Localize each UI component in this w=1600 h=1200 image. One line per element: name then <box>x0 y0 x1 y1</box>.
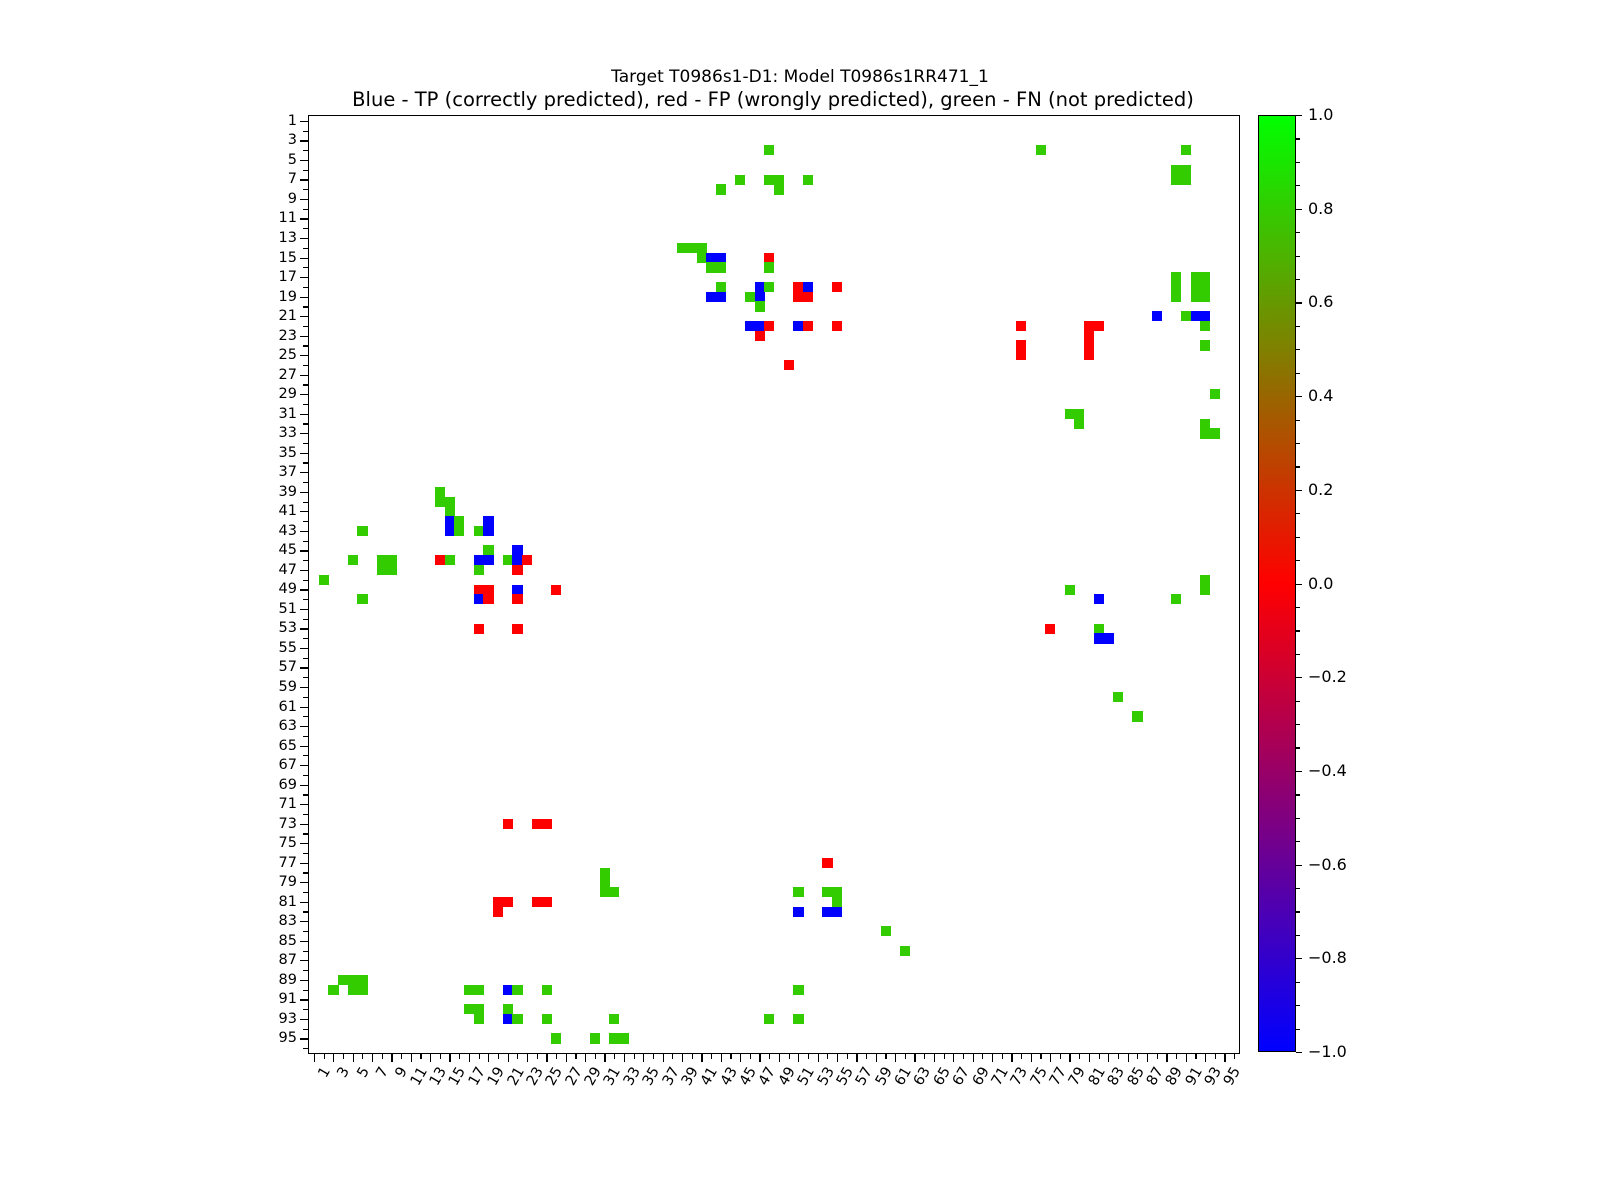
colorbar-minor-tick <box>1296 443 1300 444</box>
x-tick <box>643 1053 644 1062</box>
x-tick <box>982 1053 983 1059</box>
contact-cell <box>609 1014 619 1024</box>
y-tick <box>300 648 309 649</box>
x-tick-label: 79 <box>1067 1065 1089 1088</box>
x-tick-label: 41 <box>699 1065 721 1088</box>
contact-cell <box>435 497 445 507</box>
contact-cell <box>454 516 464 526</box>
contact-cell <box>503 1004 513 1014</box>
y-tick <box>300 804 309 805</box>
contact-cell <box>1094 594 1104 604</box>
contact-cell <box>1045 624 1055 634</box>
contact-cell <box>803 175 813 185</box>
x-tick <box>614 1053 615 1059</box>
colorbar-tick-label: 0.4 <box>1308 388 1333 404</box>
y-tick <box>300 785 309 786</box>
y-tick <box>303 794 309 795</box>
contact-cell <box>445 555 455 565</box>
contact-cell <box>474 1004 484 1014</box>
contact-cell <box>793 321 803 331</box>
contact-cell <box>1210 428 1220 438</box>
y-tick <box>300 472 309 473</box>
colorbar-tick-label: −0.2 <box>1308 669 1347 685</box>
suptitle-line-1: Target T0986s1-D1: Model T0986s1RR471_1 <box>0 66 1600 89</box>
colorbar-tick <box>1296 209 1302 210</box>
y-tick <box>300 336 309 337</box>
colorbar-minor-tick <box>1296 935 1300 936</box>
colorbar-tick-label: −0.8 <box>1308 950 1347 966</box>
x-tick <box>1118 1053 1119 1059</box>
x-tick <box>401 1053 402 1059</box>
colorbar-tick <box>1296 1052 1302 1053</box>
x-tick-label: 57 <box>854 1065 876 1088</box>
x-tick-label: 33 <box>622 1065 644 1088</box>
x-tick <box>692 1053 693 1059</box>
y-tick-label: 51 <box>279 602 297 617</box>
colorbar-minor-tick <box>1296 724 1300 725</box>
contact-cell <box>1094 633 1104 643</box>
y-tick <box>303 423 309 424</box>
y-tick <box>300 316 309 317</box>
x-tick <box>924 1053 925 1059</box>
x-tick <box>324 1053 325 1059</box>
contact-cell <box>822 858 832 868</box>
contact-cell <box>1200 419 1210 429</box>
y-tick <box>300 589 309 590</box>
colorbar-minor-tick <box>1296 326 1300 327</box>
contact-cell <box>803 292 813 302</box>
x-tick <box>362 1053 363 1059</box>
y-tick <box>303 677 309 678</box>
y-tick <box>300 863 309 864</box>
y-tick <box>303 1048 309 1049</box>
y-tick <box>300 238 309 239</box>
contact-cell <box>764 145 774 155</box>
contact-cell <box>1103 633 1113 643</box>
y-tick-label: 23 <box>279 328 297 343</box>
colorbar-tick-label: −1.0 <box>1308 1044 1347 1060</box>
contact-cell <box>483 545 493 555</box>
y-tick <box>300 453 309 454</box>
contact-cell <box>512 594 522 604</box>
contact-cell <box>1181 165 1191 175</box>
x-tick <box>721 1053 722 1062</box>
contact-cell <box>1171 594 1181 604</box>
contact-cell <box>503 819 513 829</box>
contact-cell <box>600 868 610 878</box>
y-tick <box>300 394 309 395</box>
y-tick <box>303 443 309 444</box>
y-tick <box>300 941 309 942</box>
colorbar-minor-tick <box>1296 138 1300 139</box>
colorbar-minor-tick <box>1296 794 1300 795</box>
contact-cell <box>755 282 765 292</box>
colorbar-tick-label: 0.8 <box>1308 201 1333 217</box>
x-tick <box>343 1053 344 1059</box>
y-tick <box>300 960 309 961</box>
contact-cell <box>1016 350 1026 360</box>
y-tick-label: 45 <box>279 543 297 558</box>
y-tick <box>300 355 309 356</box>
contact-cell <box>503 985 513 995</box>
colorbar-minor-tick <box>1296 911 1300 912</box>
y-tick <box>300 843 309 844</box>
y-tick <box>300 570 309 571</box>
y-tick <box>300 140 309 141</box>
y-tick-label: 35 <box>279 445 297 460</box>
contact-cell <box>1200 311 1210 321</box>
y-tick <box>300 433 309 434</box>
y-tick <box>303 462 309 463</box>
y-tick <box>300 902 309 903</box>
y-tick <box>303 287 309 288</box>
y-tick <box>303 541 309 542</box>
contact-cell <box>1171 165 1181 175</box>
contact-cell <box>716 184 726 194</box>
colorbar-tick <box>1296 865 1302 866</box>
contact-cell <box>764 1014 774 1024</box>
x-tick-label: 69 <box>970 1065 992 1088</box>
x-tick-label: 87 <box>1145 1065 1167 1088</box>
colorbar-minor-tick <box>1296 747 1300 748</box>
contact-cell <box>445 497 455 507</box>
y-tick-label: 19 <box>279 289 297 304</box>
colorbar-minor-tick <box>1296 256 1300 257</box>
y-tick-label: 73 <box>279 816 297 831</box>
x-tick <box>1234 1053 1235 1059</box>
contact-cell <box>1181 145 1191 155</box>
y-tick <box>303 755 309 756</box>
contact-cell <box>474 624 484 634</box>
y-tick <box>303 502 309 503</box>
contact-cell <box>716 262 726 272</box>
x-tick <box>905 1053 906 1059</box>
x-tick <box>498 1053 499 1059</box>
y-tick <box>300 921 309 922</box>
x-tick <box>353 1053 354 1062</box>
y-tick-label: 87 <box>279 953 297 968</box>
contact-cell <box>1036 145 1046 155</box>
x-tick <box>663 1053 664 1062</box>
axes-title-legend: Blue - TP (correctly predicted), red - F… <box>308 88 1238 111</box>
x-tick <box>808 1053 809 1059</box>
colorbar-tick-label: −0.6 <box>1308 857 1347 873</box>
y-tick <box>303 267 309 268</box>
contact-cell <box>512 985 522 995</box>
contact-cell <box>483 585 493 595</box>
colorbar-minor-tick <box>1296 420 1300 421</box>
y-tick <box>303 716 309 717</box>
x-tick <box>798 1053 799 1062</box>
contact-cell <box>1074 419 1084 429</box>
contact-cell <box>474 565 484 575</box>
contact-cell <box>483 516 493 526</box>
x-tick <box>1040 1053 1041 1059</box>
x-tick <box>1021 1053 1022 1059</box>
contact-cell <box>764 282 774 292</box>
x-tick <box>556 1053 557 1059</box>
y-tick-label: 95 <box>279 1031 297 1046</box>
contact-map-cells <box>309 116 1239 1053</box>
contact-cell <box>764 175 774 185</box>
y-tick-label: 77 <box>279 855 297 870</box>
y-tick-label: 61 <box>279 699 297 714</box>
y-tick-label: 21 <box>279 309 297 324</box>
x-tick <box>575 1053 576 1059</box>
contact-cell <box>454 526 464 536</box>
contact-cell <box>1016 321 1026 331</box>
x-tick <box>759 1053 760 1062</box>
contact-cell <box>716 282 726 292</box>
colorbar-minor-tick <box>1296 818 1300 819</box>
contact-cell <box>764 321 774 331</box>
contact-cell <box>774 184 784 194</box>
y-tick-label: 1 <box>288 114 297 129</box>
contact-cell <box>793 1014 803 1024</box>
x-tick <box>1128 1053 1129 1062</box>
contact-cell <box>512 585 522 595</box>
colorbar-minor-tick <box>1296 373 1300 374</box>
y-tick <box>303 658 309 659</box>
y-tick-label: 93 <box>279 1012 297 1027</box>
contact-cell <box>483 555 493 565</box>
y-tick <box>300 199 309 200</box>
y-tick <box>300 999 309 1000</box>
contact-cell <box>542 819 552 829</box>
x-tick <box>818 1053 819 1062</box>
x-tick <box>876 1053 877 1062</box>
x-tick-label: 45 <box>738 1065 760 1088</box>
colorbar-tick <box>1296 115 1302 116</box>
contact-cell <box>755 321 765 331</box>
contact-cell <box>551 1033 561 1043</box>
colorbar-minor-tick <box>1296 1029 1300 1030</box>
contact-cell <box>1065 585 1075 595</box>
x-tick <box>837 1053 838 1062</box>
y-tick <box>300 882 309 883</box>
colorbar-minor-tick <box>1296 841 1300 842</box>
contact-cell <box>1171 282 1181 292</box>
x-tick <box>789 1053 790 1059</box>
y-tick <box>303 248 309 249</box>
y-tick <box>303 1029 309 1030</box>
x-tick <box>469 1053 470 1062</box>
y-tick-label: 41 <box>279 504 297 519</box>
contact-cell <box>900 946 910 956</box>
contact-cell <box>793 292 803 302</box>
contact-cell <box>474 585 484 595</box>
contact-cell <box>1171 272 1181 282</box>
contact-cell <box>348 555 358 565</box>
contact-cell <box>512 565 522 575</box>
contact-cell <box>764 262 774 272</box>
colorbar-tick-label: 0.6 <box>1308 294 1333 310</box>
y-tick <box>300 1038 309 1039</box>
colorbar-tick-label: −0.4 <box>1308 763 1347 779</box>
colorbar-minor-tick <box>1296 279 1300 280</box>
colorbar-minor-tick <box>1296 888 1300 889</box>
contact-cell <box>764 253 774 263</box>
y-tick <box>303 911 309 912</box>
x-tick <box>730 1053 731 1059</box>
x-tick <box>701 1053 702 1062</box>
x-tick-label: 29 <box>583 1065 605 1088</box>
x-tick <box>546 1053 547 1062</box>
x-tick-label: 5 <box>355 1065 372 1080</box>
contact-cell <box>832 887 842 897</box>
x-tick-label: 61 <box>893 1065 915 1088</box>
y-tick <box>303 228 309 229</box>
x-tick <box>604 1053 605 1062</box>
x-tick <box>517 1053 518 1059</box>
x-tick <box>411 1053 412 1062</box>
contact-cell <box>445 526 455 536</box>
y-tick-label: 13 <box>279 231 297 246</box>
contact-cell <box>755 331 765 341</box>
x-tick <box>866 1053 867 1059</box>
contact-cell <box>687 243 697 253</box>
x-tick-label: 63 <box>912 1065 934 1088</box>
contact-cell <box>1191 272 1201 282</box>
contact-cell <box>387 565 397 575</box>
x-tick <box>992 1053 993 1062</box>
colorbar[interactable]: 1.00.80.60.40.20.0−0.2−0.4−0.6−0.8−1.0 <box>1258 115 1296 1052</box>
x-tick-label: 37 <box>660 1065 682 1088</box>
y-tick-label: 43 <box>279 524 297 539</box>
x-tick <box>595 1053 596 1059</box>
contact-cell <box>1191 282 1201 292</box>
x-tick <box>430 1053 431 1062</box>
x-tick-label: 3 <box>336 1065 353 1080</box>
contact-cell <box>357 594 367 604</box>
x-tick <box>440 1053 441 1059</box>
contact-cell <box>435 487 445 497</box>
y-tick-label: 11 <box>279 211 297 226</box>
x-tick <box>1195 1053 1196 1059</box>
x-tick-label: 71 <box>990 1065 1012 1088</box>
y-tick <box>303 365 309 366</box>
y-tick <box>303 521 309 522</box>
y-tick-label: 81 <box>279 894 297 909</box>
contact-cell <box>474 985 484 995</box>
colorbar-tick <box>1296 677 1302 678</box>
y-tick <box>303 1009 309 1010</box>
contact-cell <box>822 887 832 897</box>
x-tick <box>1099 1053 1100 1059</box>
contact-cell <box>464 1004 474 1014</box>
contact-cell <box>512 555 522 565</box>
y-tick-label: 67 <box>279 758 297 773</box>
x-tick <box>488 1053 489 1062</box>
y-tick-label: 89 <box>279 973 297 988</box>
x-tick <box>508 1053 509 1062</box>
y-tick <box>303 638 309 639</box>
colorbar-tick <box>1296 584 1302 585</box>
contact-cell <box>387 555 397 565</box>
colorbar-minor-tick <box>1296 232 1300 233</box>
y-tick-label: 29 <box>279 387 297 402</box>
contact-cell <box>445 506 455 516</box>
x-tick-label: 21 <box>505 1065 527 1088</box>
x-tick <box>653 1053 654 1059</box>
y-tick-label: 57 <box>279 660 297 675</box>
colorbar-tick-label: 1.0 <box>1308 107 1333 123</box>
x-tick <box>1011 1053 1012 1062</box>
x-tick <box>1205 1053 1206 1062</box>
y-tick <box>300 179 309 180</box>
y-tick <box>300 765 309 766</box>
y-tick-label: 47 <box>279 563 297 578</box>
y-tick <box>300 414 309 415</box>
colorbar-minor-tick <box>1296 513 1300 514</box>
y-tick <box>300 277 309 278</box>
x-tick <box>1224 1053 1225 1062</box>
y-tick <box>300 628 309 629</box>
contact-cell <box>1084 321 1094 331</box>
colorbar-minor-tick <box>1296 466 1300 467</box>
y-tick <box>303 951 309 952</box>
contact-cell <box>600 887 610 897</box>
x-tick <box>672 1053 673 1059</box>
y-tick-label: 39 <box>279 485 297 500</box>
x-tick <box>1079 1053 1080 1059</box>
x-tick <box>779 1053 780 1062</box>
contact-cell <box>435 555 445 565</box>
contact-cell <box>832 282 842 292</box>
x-tick <box>449 1053 450 1062</box>
y-tick-label: 53 <box>279 621 297 636</box>
colorbar-minor-tick <box>1296 162 1300 163</box>
y-tick <box>303 833 309 834</box>
x-tick <box>1069 1053 1070 1062</box>
contact-cell <box>474 1014 484 1024</box>
contact-cell <box>784 360 794 370</box>
contact-map-plot[interactable]: 1357911131517192123252729313335373941434… <box>308 115 1240 1054</box>
contact-cell <box>328 985 338 995</box>
x-tick-label: 49 <box>777 1065 799 1088</box>
contact-cell <box>357 975 367 985</box>
x-tick <box>1002 1053 1003 1059</box>
y-tick <box>303 872 309 873</box>
y-tick-label: 17 <box>279 270 297 285</box>
contact-cell <box>793 887 803 897</box>
y-tick <box>303 170 309 171</box>
x-tick-label: 77 <box>1048 1065 1070 1088</box>
contact-cell <box>1065 409 1075 419</box>
x-tick-label: 11 <box>408 1065 430 1088</box>
contact-cell <box>774 175 784 185</box>
x-tick <box>1186 1053 1187 1062</box>
y-tick-label: 31 <box>279 406 297 421</box>
y-tick-label: 65 <box>279 738 297 753</box>
contact-cell <box>542 985 552 995</box>
colorbar-tick-label: 0.0 <box>1308 576 1333 592</box>
x-tick <box>1176 1053 1177 1059</box>
y-tick-label: 71 <box>279 797 297 812</box>
x-tick <box>372 1053 373 1062</box>
y-tick-label: 7 <box>288 172 297 187</box>
x-tick-label: 89 <box>1164 1065 1186 1088</box>
y-tick <box>300 687 309 688</box>
contact-cell <box>1181 311 1191 321</box>
y-tick <box>303 345 309 346</box>
x-tick <box>314 1053 315 1062</box>
x-tick <box>1157 1053 1158 1059</box>
colorbar-minor-tick <box>1296 537 1300 538</box>
colorbar-gradient <box>1258 115 1296 1052</box>
x-tick-label: 85 <box>1125 1065 1147 1088</box>
contact-cell <box>1200 282 1210 292</box>
